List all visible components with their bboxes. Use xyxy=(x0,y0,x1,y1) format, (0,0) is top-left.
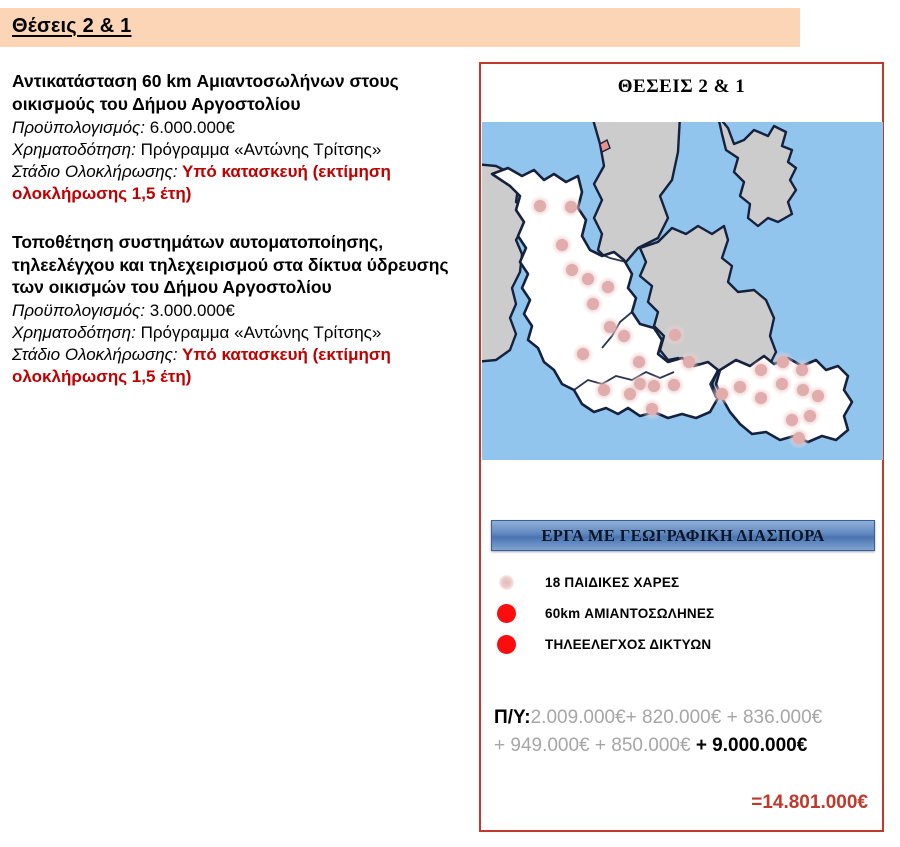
project-budget-line: Προϋπολογισμός: 3.000.000€ xyxy=(12,300,464,322)
budget-label: Προϋπολογισμός: xyxy=(12,301,145,320)
red-dot-icon xyxy=(489,635,523,654)
project-funding-line: Χρηματοδότηση: Πρόγραμμα «Αντώνης Τρίτση… xyxy=(12,322,464,344)
map-legend: 18 ΠΑΙΔΙΚΕΣ ΧΑΡΕΣ 60km ΑΜΙΑΝΤΟΣΩΛΗΝΕΣ ΤΗ… xyxy=(489,567,879,660)
project-block: Τοποθέτηση συστημάτων αυτοματοποίησης, τ… xyxy=(12,231,464,389)
budget-line-2-highlight: + 9.000.000€ xyxy=(696,735,807,756)
budget-line-2: + 949.000€ + 850.000€ + 9.000.000€ xyxy=(494,732,874,760)
legend-label: 60km ΑΜΙΑΝΤΟΣΩΛΗΝΕΣ xyxy=(523,606,714,621)
project-block: Αντικατάσταση 60 km Αμιαντοσωλήνων στους… xyxy=(12,70,464,205)
kefalonia-map-figure xyxy=(482,122,883,460)
project-status-line: Στάδιο Ολοκλήρωσης: Υπό κατασκευή (εκτίμ… xyxy=(12,344,464,388)
legend-label: 18 ΠΑΙΔΙΚΕΣ ΧΑΡΕΣ xyxy=(523,575,679,590)
banner-label: ΕΡΓΑ ΜΕ ΓΕΩΓΡΑΦΙΚΗ ΔΙΑΣΠΟΡΑ xyxy=(541,526,824,546)
funding-label: Χρηματοδότηση: xyxy=(12,140,136,159)
legend-label: ΤΗΛΕΕΛΕΓΧΟΣ ΔΙΚΤΥΩΝ xyxy=(523,637,711,652)
map-panel: ΘΕΣΕΙΣ 2 & 1 xyxy=(479,62,884,832)
budget-line-1-amounts: 2.009.000€+ 820.000€ + 836.000€ xyxy=(531,707,823,728)
geographic-dispersion-banner: ΕΡΓΑ ΜΕ ΓΕΩΓΡΑΦΙΚΗ ΔΙΑΣΠΟΡΑ xyxy=(491,520,875,551)
budget-line-1: Π/Υ:2.009.000€+ 820.000€ + 836.000€ xyxy=(494,704,874,732)
project-title: Αντικατάσταση 60 km Αμιαντοσωλήνων στους… xyxy=(12,70,464,116)
budget-value: 3.000.000€ xyxy=(145,301,235,320)
legend-item-telemetry: ΤΗΛΕΕΛΕΓΧΟΣ ΔΙΚΤΥΩΝ xyxy=(489,629,879,660)
funding-value: Πρόγραμμα «Αντώνης Τρίτσης» xyxy=(136,140,381,159)
slide-header-band: Θέσεις 2 & 1 xyxy=(0,8,800,47)
page-title: Θέσεις 2 & 1 xyxy=(12,15,131,38)
projects-column: Αντικατάσταση 60 km Αμιαντοσωλήνων στους… xyxy=(12,70,464,415)
map-panel-title: ΘΕΣΕΙΣ 2 & 1 xyxy=(481,76,882,98)
project-title: Τοποθέτηση συστημάτων αυτοματοποίησης, τ… xyxy=(12,231,464,299)
budget-line-2-amounts: + 949.000€ + 850.000€ xyxy=(494,735,696,756)
project-status-line: Στάδιο Ολοκλήρωσης: Υπό κατασκευή (εκτίμ… xyxy=(12,161,464,205)
budget-value: 6.000.000€ xyxy=(145,118,235,137)
project-budget-line: Προϋπολογισμός: 6.000.000€ xyxy=(12,117,464,139)
project-funding-line: Χρηματοδότηση: Πρόγραμμα «Αντώνης Τρίτση… xyxy=(12,139,464,161)
funding-label: Χρηματοδότηση: xyxy=(12,323,136,342)
budget-prefix: Π/Υ: xyxy=(494,707,531,728)
budget-label: Προϋπολογισμός: xyxy=(12,118,145,137)
budget-block: Π/Υ:2.009.000€+ 820.000€ + 836.000€ + 94… xyxy=(494,704,874,759)
budget-total: =14.801.000€ xyxy=(751,792,868,814)
red-dot-icon xyxy=(489,604,523,623)
funding-value: Πρόγραμμα «Αντώνης Τρίτσης» xyxy=(136,323,381,342)
status-label: Στάδιο Ολοκλήρωσης: xyxy=(12,162,178,181)
pale-pink-dot-icon xyxy=(489,575,523,590)
legend-item-asbestos-pipes: 60km ΑΜΙΑΝΤΟΣΩΛΗΝΕΣ xyxy=(489,598,879,629)
legend-item-playgrounds: 18 ΠΑΙΔΙΚΕΣ ΧΑΡΕΣ xyxy=(489,567,879,598)
status-label: Στάδιο Ολοκλήρωσης: xyxy=(12,345,178,364)
